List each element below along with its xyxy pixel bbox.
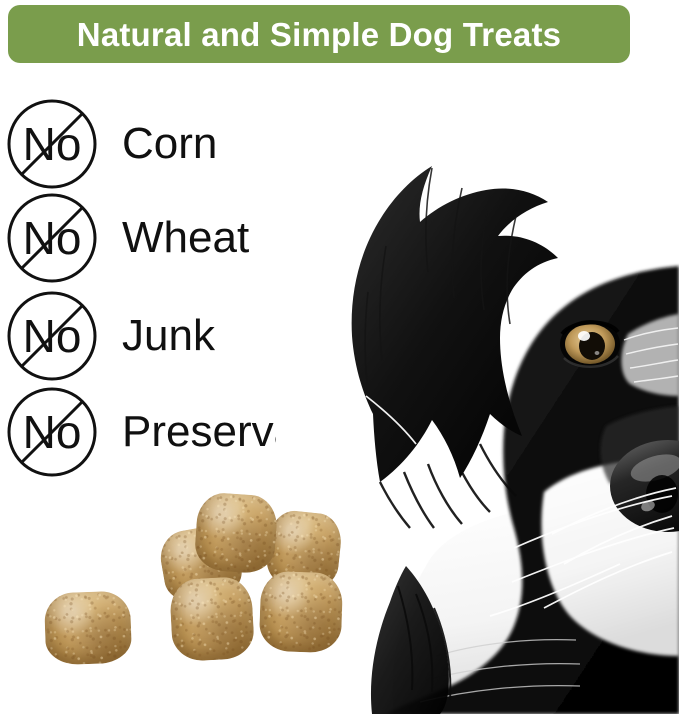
product-infographic: Natural and Simple Dog Treats No Corn No — [0, 0, 679, 714]
treat-piece — [156, 522, 245, 606]
claim-label: Wheat — [122, 216, 249, 260]
claim-label: Corn — [122, 122, 217, 166]
claim-row: No Junk — [0, 290, 215, 382]
claim-label: Junk — [122, 314, 215, 358]
treat-piece — [44, 591, 132, 666]
header-banner: Natural and Simple Dog Treats — [8, 5, 630, 63]
no-corn-icon: No — [6, 98, 98, 190]
claim-row: No Corn — [0, 98, 217, 190]
dog-eye — [560, 320, 620, 368]
dog-photo — [276, 96, 679, 714]
no-preservatives-icon: No — [6, 386, 98, 478]
treat-piece — [169, 576, 255, 662]
page-title: Natural and Simple Dog Treats — [77, 18, 561, 51]
no-junk-icon: No — [6, 290, 98, 382]
claim-row: No Wheat — [0, 192, 249, 284]
no-wheat-icon: No — [6, 192, 98, 284]
treat-piece — [193, 491, 278, 574]
